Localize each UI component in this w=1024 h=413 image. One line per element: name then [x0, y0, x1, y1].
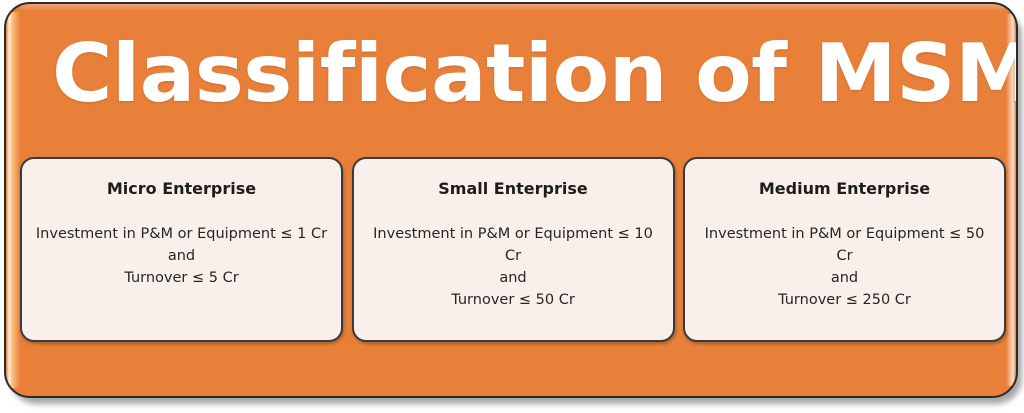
- card-small-enterprise: Small Enterprise Investment in P&M or Eq…: [352, 157, 675, 342]
- enterprise-card-row: Micro Enterprise Investment in P&M or Eq…: [20, 157, 1006, 342]
- card-investment-criterion: Investment in P&M or Equipment ≤ 1 Cr: [32, 223, 331, 245]
- card-body: Investment in P&M or Equipment ≤ 1 Cr an…: [32, 223, 331, 289]
- card-micro-enterprise: Micro Enterprise Investment in P&M or Eq…: [20, 157, 343, 342]
- orange-panel: Classification of MSME Micro Enterprise …: [4, 2, 1018, 398]
- card-conjunction: and: [32, 245, 331, 267]
- card-turnover-criterion: Turnover ≤ 5 Cr: [32, 267, 331, 289]
- card-body: Investment in P&M or Equipment ≤ 10 Cr a…: [364, 223, 663, 311]
- msme-classification-infographic: Classification of MSME Micro Enterprise …: [0, 0, 1024, 413]
- card-investment-criterion: Investment in P&M or Equipment ≤ 10 Cr: [364, 223, 663, 267]
- card-title: Small Enterprise: [438, 179, 587, 199]
- card-title: Medium Enterprise: [759, 179, 930, 199]
- card-turnover-criterion: Turnover ≤ 50 Cr: [364, 289, 663, 311]
- card-investment-criterion: Investment in P&M or Equipment ≤ 50 Cr: [695, 223, 994, 267]
- card-title: Micro Enterprise: [107, 179, 256, 199]
- card-conjunction: and: [364, 267, 663, 289]
- card-medium-enterprise: Medium Enterprise Investment in P&M or E…: [683, 157, 1006, 342]
- panel-left-highlight: [6, 12, 20, 388]
- panel-top-highlight: [20, 4, 1004, 11]
- card-body: Investment in P&M or Equipment ≤ 50 Cr a…: [695, 223, 994, 311]
- page-title: Classification of MSME: [52, 22, 1018, 126]
- card-conjunction: and: [695, 267, 994, 289]
- card-turnover-criterion: Turnover ≤ 250 Cr: [695, 289, 994, 311]
